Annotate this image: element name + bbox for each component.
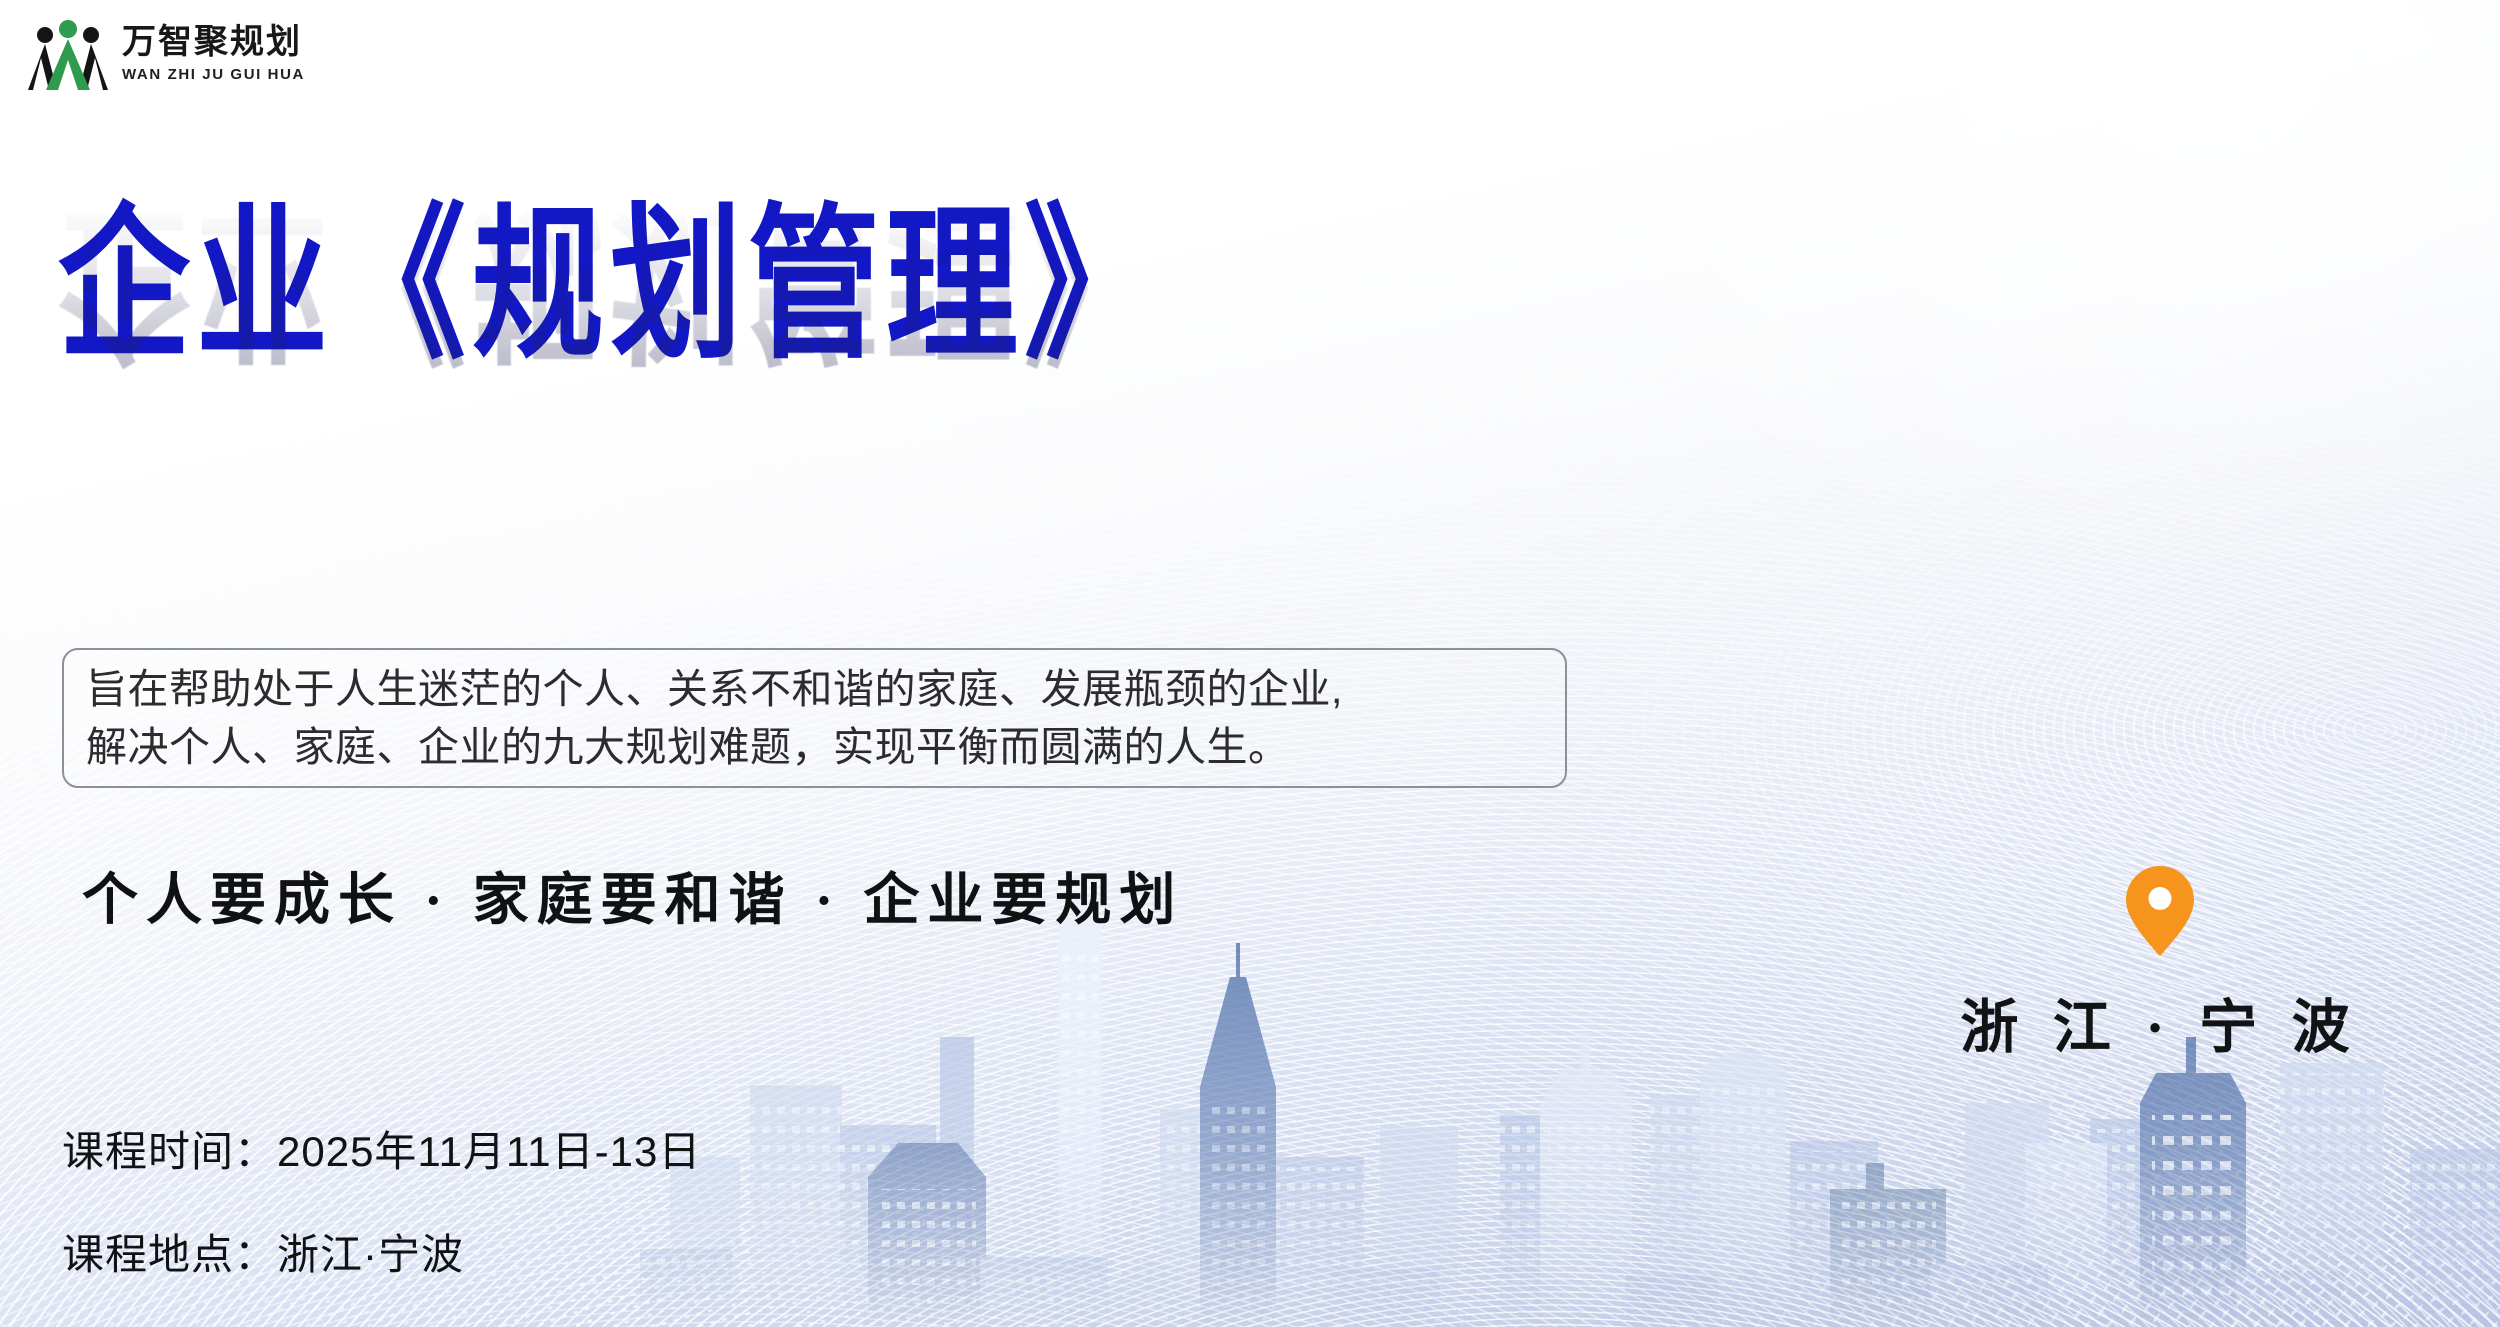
description-line-1: 旨在帮助处于人生迷茫的个人、关系不和谐的家庭、发展瓶颈的企业, xyxy=(86,660,1545,718)
course-time: 课程时间：2025年11月11日-13日 xyxy=(62,1118,701,1179)
hero-tagline: 个人要成长 · 家庭要和谐 · 企业要规划 xyxy=(82,855,1183,936)
location-badge: 浙 江 · 宁 波 xyxy=(1950,866,2370,1064)
map-pin-icon xyxy=(2126,866,2194,956)
course-place: 课程地点：浙江·宁波 xyxy=(62,1221,701,1282)
page-title-reflection: 企业《规划管理》 xyxy=(58,191,1162,371)
course-meta: 课程时间：2025年11月11日-13日 课程地点：浙江·宁波 xyxy=(62,1118,701,1282)
location-city: 浙 江 · 宁 波 xyxy=(1950,980,2370,1064)
description-box: 旨在帮助处于人生迷茫的个人、关系不和谐的家庭、发展瓶颈的企业, 解决个人、家庭、… xyxy=(62,648,1567,788)
brand-name-en: WAN ZHI JU GUI HUA xyxy=(122,67,305,82)
brand-name-cn: 万智聚规划 xyxy=(122,26,305,60)
hero-title-block: 企业《规划管理》 企业《规划管理》 xyxy=(58,196,1618,339)
description-line-2: 解决个人、家庭、企业的九大规划难题，实现平衡而圆满的人生。 xyxy=(86,718,1545,776)
brand-logo: 万智聚规划 WAN ZHI JU GUI HUA xyxy=(28,18,305,90)
three-people-logo-icon xyxy=(28,18,108,90)
poster-canvas: 万智聚规划 WAN ZHI JU GUI HUA 企业《规划管理》 企业《规划管… xyxy=(0,0,2500,1327)
